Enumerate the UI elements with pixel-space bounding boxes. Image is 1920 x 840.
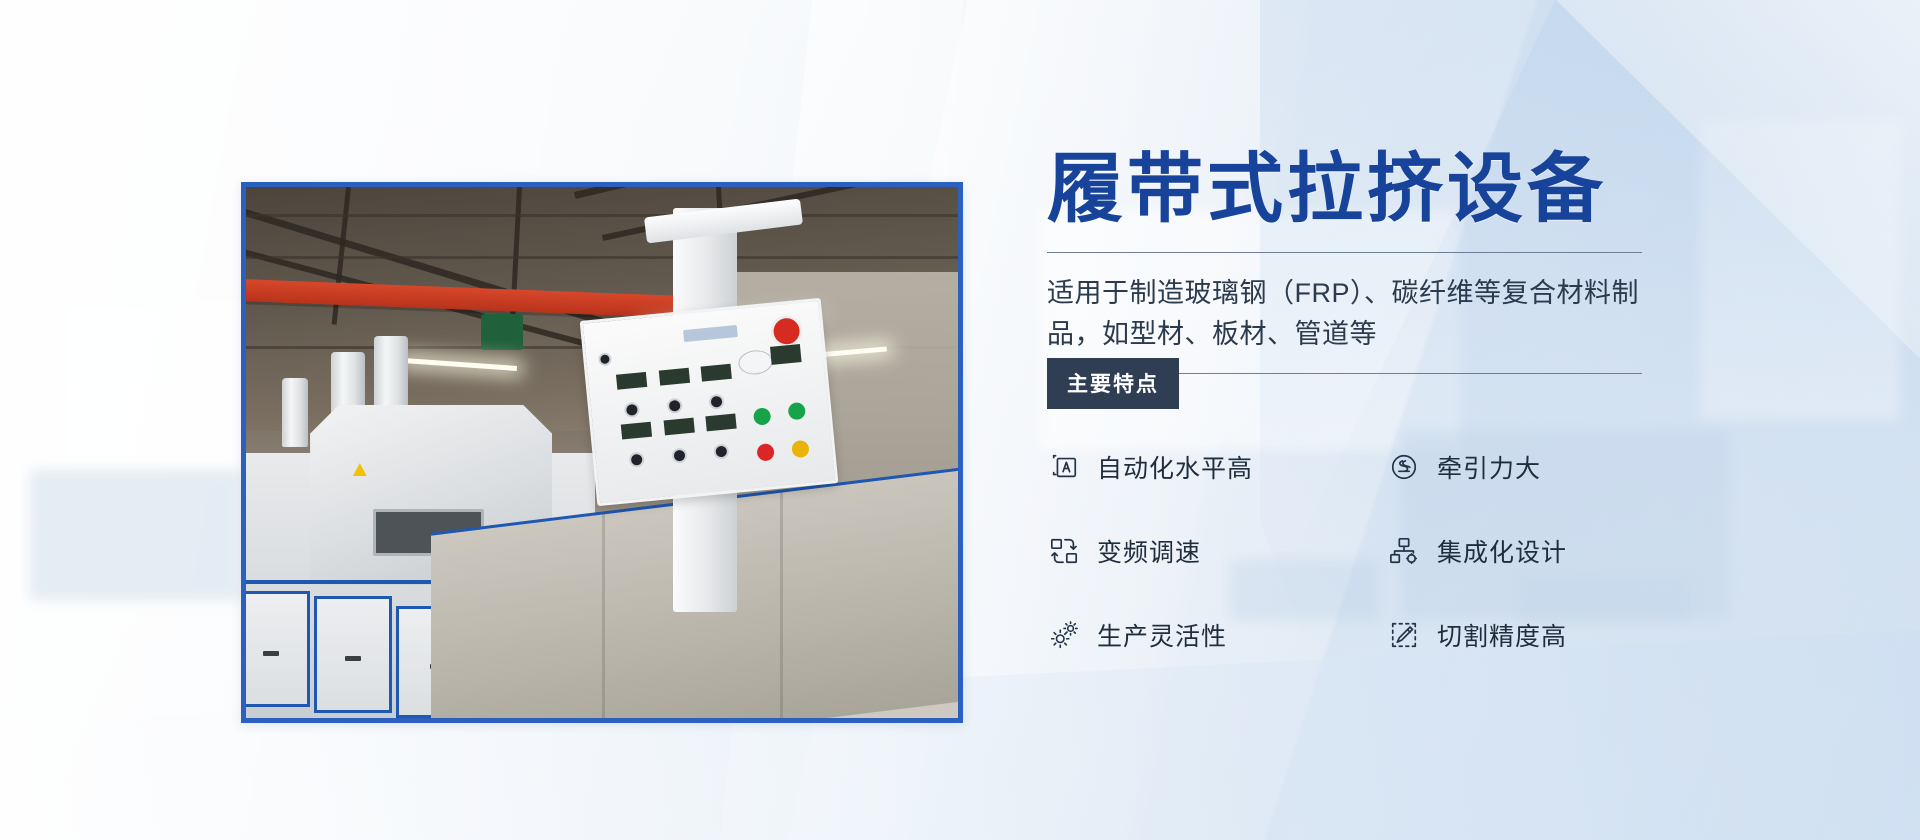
roof-purlin: [246, 256, 958, 259]
integrated-design-icon: [1387, 534, 1421, 568]
machine-cabinet: [314, 596, 392, 713]
emergency-stop-button: [772, 318, 800, 346]
hydraulic-cylinder: [282, 378, 308, 447]
digital-display: [621, 422, 652, 440]
digital-display: [663, 418, 694, 436]
feature-item-cut-precision[interactable]: 切割精度高: [1387, 617, 1727, 653]
digital-display: [701, 364, 732, 382]
control-knob: [666, 398, 682, 414]
control-knob: [713, 444, 729, 460]
feature-item-automation[interactable]: 自动化水平高: [1047, 449, 1387, 485]
indicator-lamp-yellow: [791, 439, 810, 458]
cabinet-handle: [345, 656, 361, 661]
feature-label: 切割精度高: [1437, 617, 1567, 653]
frequency-convert-icon: [1047, 534, 1081, 568]
indicator-lamp-green: [787, 402, 806, 421]
control-knob: [671, 448, 687, 464]
gears-icon: [1047, 618, 1081, 652]
control-panel: [579, 298, 838, 506]
product-photo-frame: [241, 182, 963, 723]
digital-display: [658, 368, 689, 386]
digital-display: [616, 372, 647, 390]
cabinet-handle: [263, 651, 279, 656]
conveyor-seam: [780, 492, 783, 718]
page-title: 履带式拉挤设备: [1047, 150, 1727, 230]
digital-display: [770, 344, 802, 365]
feature-label: 生产灵活性: [1097, 617, 1227, 653]
digital-display: [705, 414, 736, 432]
analog-gauge: [737, 349, 773, 376]
banner-content: 履带式拉挤设备 适用于制造玻璃钢（FRP）、碳纤维等复合材料制品，如型材、板材、…: [1047, 150, 1727, 653]
banner-subtitle: 适用于制造玻璃钢（FRP）、碳纤维等复合材料制品，如型材、板材、管道等: [1047, 273, 1647, 355]
traction-coil-icon: [1387, 450, 1421, 484]
indicator-lamp-green: [752, 407, 771, 426]
feature-item-traction[interactable]: 牵引力大: [1387, 449, 1727, 485]
control-knob: [597, 352, 611, 366]
panel-logo: [683, 325, 738, 342]
feature-item-flexibility[interactable]: 生产灵活性: [1047, 617, 1387, 653]
crane-hoist: [481, 314, 523, 350]
feature-label: 自动化水平高: [1097, 449, 1253, 485]
feature-item-integrated[interactable]: 集成化设计: [1387, 533, 1727, 569]
automation-a-box-icon: [1047, 450, 1081, 484]
conveyor-seam: [603, 514, 606, 718]
control-knob: [623, 402, 639, 418]
feature-label: 集成化设计: [1437, 533, 1567, 569]
machine-cabinet: [246, 591, 310, 708]
control-knob: [628, 452, 644, 468]
cut-precision-pen-icon: [1387, 618, 1421, 652]
product-banner: 履带式拉挤设备 适用于制造玻璃钢（FRP）、碳纤维等复合材料制品，如型材、板材、…: [0, 0, 1920, 840]
title-divider: [1047, 252, 1642, 253]
feature-label: 变频调速: [1097, 533, 1201, 569]
feature-label: 牵引力大: [1437, 449, 1541, 485]
indicator-lamp-red: [756, 443, 775, 462]
product-photo: [246, 187, 958, 718]
control-knob: [708, 393, 724, 409]
features-badge: 主要特点: [1047, 358, 1179, 409]
feature-item-frequency[interactable]: 变频调速: [1047, 533, 1387, 569]
features-list: 自动化水平高 牵引力大: [1047, 449, 1727, 653]
roof-purlin: [246, 214, 958, 217]
